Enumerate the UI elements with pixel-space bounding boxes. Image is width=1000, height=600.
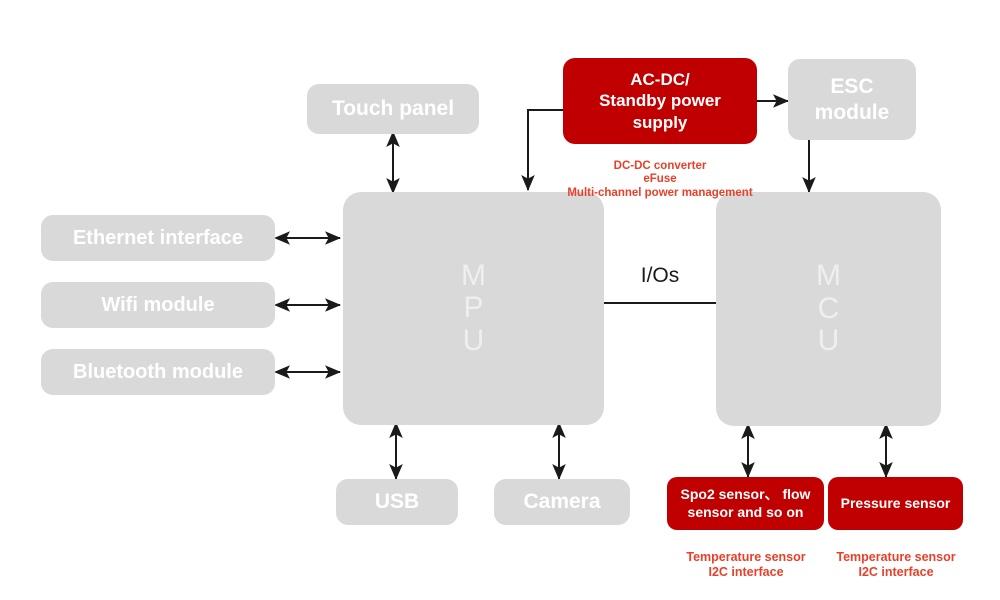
caption-spo2-sensor-text: Temperature sensor I2C interface [686,550,805,579]
block-ethernet-interface-label: Ethernet interface [73,227,243,250]
block-mpu-label: M P U [461,260,486,357]
block-wifi-module[interactable]: Wifi module [41,282,275,328]
block-camera-label: Camera [523,490,600,514]
mpu-letter-3: U [463,325,485,357]
block-ethernet-interface[interactable]: Ethernet interface [41,215,275,261]
caption-pressure-sensor-text: Temperature sensor I2C interface [836,550,955,579]
block-pressure-sensor-label: Pressure sensor [841,495,951,513]
block-power-supply[interactable]: AC-DC/ Standby power supply [563,58,757,144]
caption-power-supply: DC-DC converter eFuse Multi-channel powe… [530,146,790,200]
block-power-supply-label: AC-DC/ Standby power supply [599,69,721,133]
interconnect-label-ios: I/Os [604,264,716,288]
caption-pressure-sensor: Temperature sensor I2C interface [812,535,980,579]
block-esc-module[interactable]: ESC module [788,59,916,140]
mcu-letter-1: M [816,260,841,292]
block-diagram-canvas: Touch panel Ethernet interface Wifi modu… [0,0,1000,600]
block-usb[interactable]: USB [336,479,458,525]
block-mcu[interactable]: M C U [716,192,941,426]
ios-text: I/Os [641,264,680,287]
mpu-letter-1: M [461,260,486,292]
block-camera[interactable]: Camera [494,479,630,525]
block-usb-label: USB [375,490,419,514]
mcu-letter-2: C [818,293,840,325]
caption-power-supply-text: DC-DC converter eFuse Multi-channel powe… [567,160,752,199]
block-touch-panel[interactable]: Touch panel [307,84,479,134]
block-spo2-sensor[interactable]: Spo2 sensor、 flow sensor and so on [667,477,824,530]
block-wifi-module-label: Wifi module [101,294,214,317]
block-bluetooth-module[interactable]: Bluetooth module [41,349,275,395]
block-bluetooth-module-label: Bluetooth module [73,361,243,384]
block-mcu-label: M C U [816,260,841,357]
block-pressure-sensor[interactable]: Pressure sensor [828,477,963,530]
mpu-letter-2: P [463,292,483,324]
caption-spo2-sensor: Temperature sensor I2C interface [662,535,830,579]
block-mpu[interactable]: M P U [343,192,604,425]
mcu-letter-3: U [818,325,840,357]
block-touch-panel-label: Touch panel [332,97,454,121]
block-esc-module-label: ESC module [815,74,890,124]
block-spo2-sensor-label: Spo2 sensor、 flow sensor and so on [681,486,811,521]
